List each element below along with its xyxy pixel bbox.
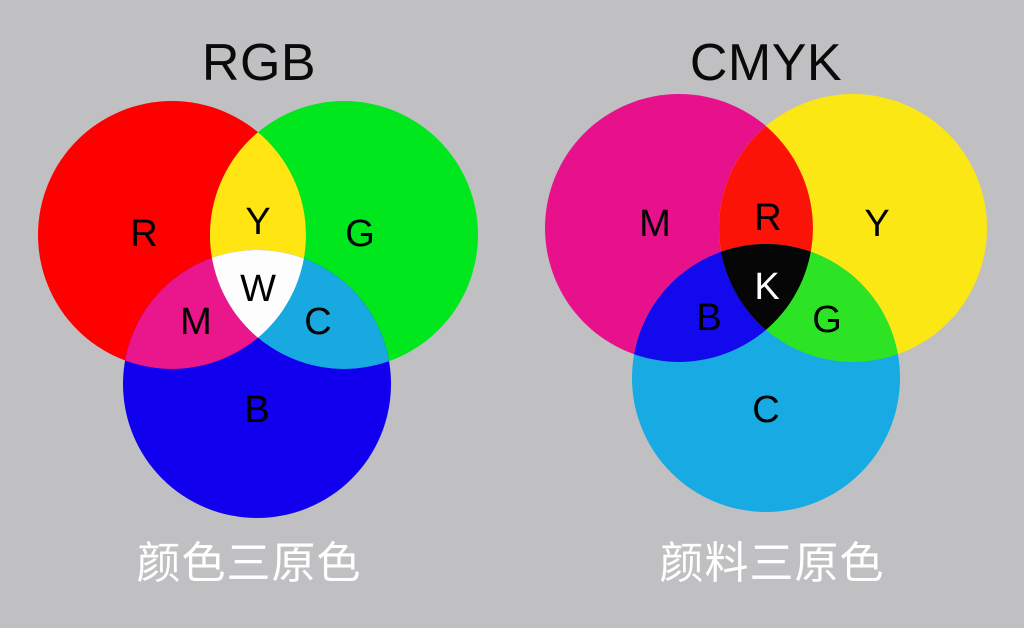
cmyk-title: CMYK [690, 34, 842, 92]
rgb-label-blue: B [244, 389, 269, 431]
cmyk-label-yellow: Y [864, 203, 889, 245]
rgb-label-magenta: M [180, 301, 212, 343]
rgb-label-green: G [345, 213, 375, 255]
cmyk-label-blue: B [696, 297, 721, 339]
rgb-label-white: W [240, 268, 276, 310]
cmyk-label-key-black: K [754, 266, 779, 308]
rgb-label-cyan: C [304, 301, 331, 343]
cmyk-label-red: R [754, 197, 781, 239]
rgb-label-yellow: Y [245, 201, 270, 243]
rgb-title: RGB [202, 34, 316, 92]
cmyk-label-magenta: M [639, 203, 671, 245]
rgb-caption: 颜色三原色 [137, 539, 362, 588]
cmyk-caption: 颜料三原色 [660, 539, 885, 588]
cmyk-label-cyan: C [752, 389, 779, 431]
rgb-label-red: R [130, 213, 157, 255]
color-model-diagram-canvas: RGB R G B Y [0, 0, 1024, 628]
cmyk-label-green: G [812, 299, 842, 341]
venn-diagrams-svg: RGB R G B Y [0, 0, 1024, 628]
